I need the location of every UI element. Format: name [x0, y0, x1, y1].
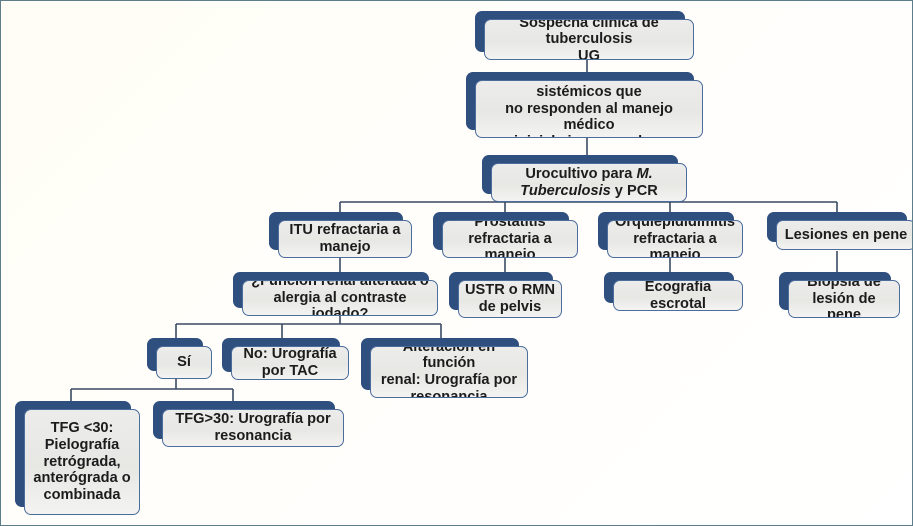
node-urocultivo-italic2: Tuberculosis: [520, 183, 611, 199]
node-orquiepididimitis-line1: Orquiepididimitis: [615, 220, 735, 230]
node-alteracion-line3: resonancia: [410, 389, 487, 398]
node-sintomas-line1: Síntomas del TGU o sistémicos que: [520, 80, 659, 100]
node-tfg-menor-line4: anterógrada o: [33, 470, 130, 486]
node-tfg-mayor[interactable]: TFG>30: Urografía por resonancia: [153, 401, 335, 439]
node-face: TFG>30: Urografía por resonancia: [162, 409, 344, 447]
node-funcion-renal[interactable]: ¿Función renal alterada o alergia al con…: [233, 272, 429, 308]
edge-si-fan: [71, 379, 233, 401]
node-sospecha-line1: Sospecha clínica de tuberculosis: [519, 19, 659, 47]
node-tfg-menor-line2: Pielografía: [45, 437, 120, 453]
node-urocultivo[interactable]: Urocultivo para M. Tuberculosis y PCR: [482, 155, 678, 194]
node-face: Sí: [156, 346, 212, 379]
node-tfg-menor-line5: combinada: [43, 487, 120, 503]
node-biopsia-line1: Biopsia de: [807, 280, 881, 290]
node-face: Sospecha clínica de tuberculosis UG: [484, 19, 694, 60]
edge-funcion-fan: [176, 314, 441, 338]
node-face: No: Urografía por TAC: [231, 346, 349, 380]
node-sintomas[interactable]: Síntomas del TGU o sistémicos que no res…: [466, 72, 694, 130]
node-biopsia-line2: lesión de pene: [812, 291, 875, 318]
node-ecografia[interactable]: Ecografía escrotal: [604, 272, 734, 303]
node-funcion-renal-line2: alergia al contraste iodado?: [273, 290, 406, 316]
node-ustr-line2: de pelvis: [479, 299, 541, 315]
node-ustr-line1: USTR o RMN: [465, 282, 555, 298]
node-face: Síntomas del TGU o sistémicos que no res…: [475, 80, 703, 138]
node-itu[interactable]: ITU refractaria a manejo: [269, 212, 403, 250]
flowchart-canvas: Sospecha clínica de tuberculosis UG Sínt…: [0, 0, 913, 526]
node-tfg-mayor-line1: TFG>30: Urografía por: [175, 411, 330, 427]
node-si-line1: Sí: [177, 354, 191, 370]
node-face: Orquiepididimitis refractaria a manejo: [607, 220, 743, 258]
node-sintomas-line3: inicial sin causa clara: [514, 134, 664, 138]
node-face: ¿Función renal alterada o alergia al con…: [242, 280, 438, 316]
node-face: USTR o RMN de pelvis: [458, 280, 562, 318]
node-prostatitis-line2: refractaria a manejo: [468, 231, 552, 258]
node-itu-line1: ITU refractaria a: [289, 222, 400, 238]
node-face: TFG <30: Pielografía retrógrada, anteróg…: [24, 409, 140, 515]
node-sintomas-line2: no responden al manejo médico: [505, 101, 673, 134]
node-tfg-menor-line3: retrógrada,: [43, 454, 120, 470]
node-urocultivo-pre: Urocultivo para: [525, 166, 636, 182]
node-alteracion[interactable]: Alteración en función renal: Urografía p…: [361, 338, 519, 390]
node-orquiepididimitis[interactable]: Orquiepididimitis refractaria a manejo: [598, 212, 734, 250]
node-ustr[interactable]: USTR o RMN de pelvis: [449, 272, 553, 310]
node-tfg-menor[interactable]: TFG <30: Pielografía retrógrada, anteróg…: [15, 401, 131, 507]
node-face: ITU refractaria a manejo: [278, 220, 412, 258]
node-orquiepididimitis-line2: refractaria a manejo: [633, 231, 717, 258]
node-funcion-renal-line1: ¿Función renal alterada o: [251, 280, 429, 289]
node-face: Urocultivo para M. Tuberculosis y PCR: [491, 163, 687, 202]
node-no-tac-line1: No: Urografía: [243, 346, 336, 362]
node-sospecha[interactable]: Sospecha clínica de tuberculosis UG: [475, 11, 685, 52]
node-ecografia-line1: Ecografía escrotal: [645, 280, 712, 311]
node-lesiones-pene-line1: Lesiones en pene: [785, 227, 907, 243]
node-tfg-menor-line1: TFG <30:: [51, 420, 114, 436]
node-no-tac-line2: por TAC: [262, 363, 318, 379]
node-urocultivo-italic1: M.: [636, 166, 652, 182]
node-alteracion-line1: Alteración en función: [403, 346, 495, 371]
node-face: Alteración en función renal: Urografía p…: [370, 346, 528, 398]
node-urocultivo-post: y PCR: [611, 183, 658, 199]
node-face: Prostatitis refractaria a manejo: [442, 220, 578, 258]
node-biopsia[interactable]: Biopsia de lesión de pene: [779, 272, 891, 310]
node-face: Lesiones en pene: [776, 220, 913, 250]
node-si[interactable]: Sí: [147, 338, 203, 371]
node-prostatitis[interactable]: Prostatitis refractaria a manejo: [433, 212, 569, 250]
node-itu-line2: manejo: [319, 239, 370, 255]
node-face: Ecografía escrotal: [613, 280, 743, 311]
node-prostatitis-line1: Prostatitis: [474, 220, 545, 230]
node-lesiones-pene[interactable]: Lesiones en pene: [767, 212, 907, 242]
node-alteracion-line2: renal: Urografía por: [381, 372, 517, 388]
node-face: Biopsia de lesión de pene: [788, 280, 900, 318]
node-no-tac[interactable]: No: Urografía por TAC: [222, 338, 340, 372]
node-tfg-mayor-line2: resonancia: [214, 428, 291, 444]
node-sospecha-line2: UG: [578, 48, 600, 60]
